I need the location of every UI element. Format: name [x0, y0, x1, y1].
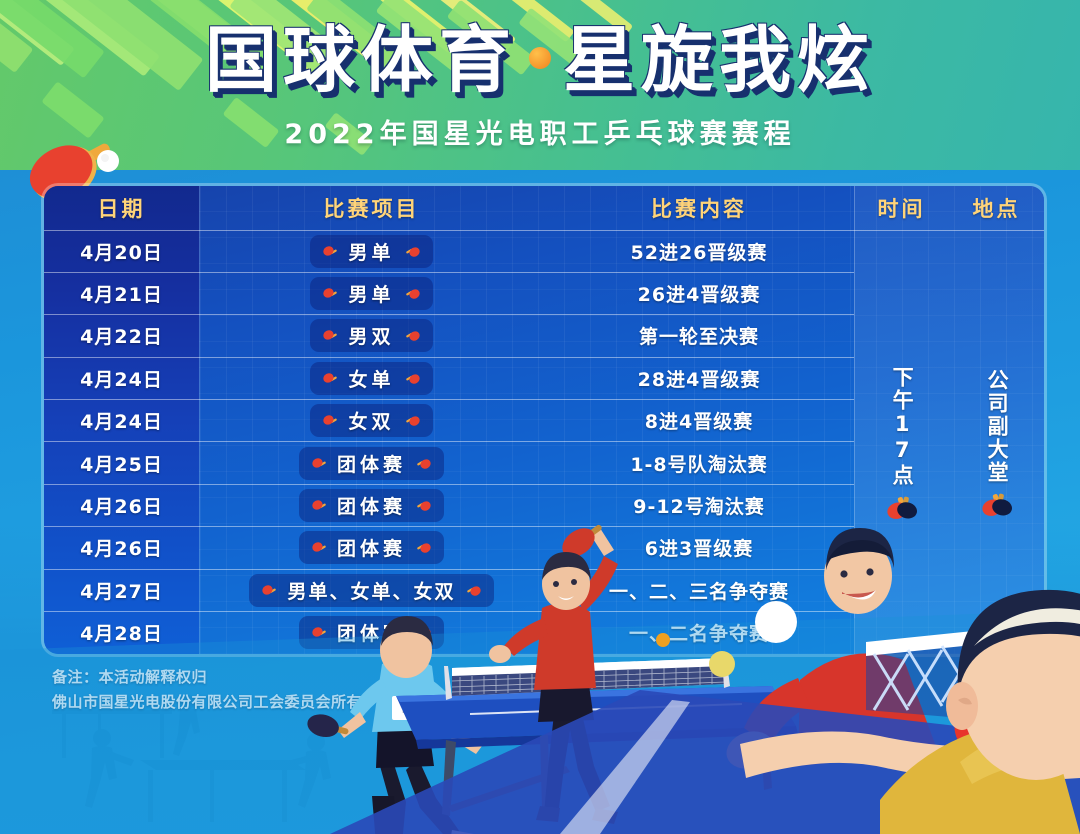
title-ball-dot	[529, 47, 551, 69]
event-label: 女单	[347, 365, 395, 392]
paddle-icon	[405, 371, 420, 386]
paddle-icon	[405, 328, 420, 343]
cell-date: 4月20日	[44, 230, 199, 272]
ping-pong-ball-white	[755, 601, 797, 643]
cell-item: 男单	[199, 272, 544, 314]
event-label: 男双	[347, 322, 395, 349]
header-place: 地点	[949, 186, 1044, 230]
event-label: 男单	[347, 280, 395, 307]
header-time: 时间	[854, 186, 949, 230]
cell-content: 1-8号队淘汰赛	[544, 442, 854, 484]
cell-item: 女双	[199, 400, 544, 442]
title-block: 国球体育星旋我炫 2022年国星光电职工乒乓球赛赛程	[0, 24, 1080, 151]
cell-item: 男单	[199, 230, 544, 272]
event-pill: 女单	[310, 362, 432, 395]
paddle-icon	[323, 244, 338, 259]
event-pill: 男双	[310, 319, 432, 352]
event-label: 男单	[347, 238, 395, 265]
cell-date: 4月25日	[44, 442, 199, 484]
place-value: 公司副大堂	[983, 369, 1010, 484]
cell-content: 52进26晋级赛	[544, 230, 854, 272]
cell-content: 8进4晋级赛	[544, 400, 854, 442]
page-title: 国球体育星旋我炫	[0, 24, 1080, 96]
paddle-icon	[405, 244, 420, 259]
cell-content: 第一轮至决赛	[544, 315, 854, 357]
paddle-icon	[405, 286, 420, 301]
event-pill: 男单	[310, 235, 432, 268]
page-subtitle: 2022年国星光电职工乒乓球赛赛程	[0, 112, 1080, 151]
cell-content: 28进4晋级赛	[544, 357, 854, 399]
cell-item: 男双	[199, 315, 544, 357]
title-part-1: 国球体育	[205, 18, 517, 102]
paddle-icon	[312, 456, 327, 471]
cell-date: 4月24日	[44, 400, 199, 442]
cell-item: 团体赛	[199, 442, 544, 484]
poster-root: 国球体育星旋我炫 2022年国星光电职工乒乓球赛赛程 日期 比赛项目 比赛内容 …	[0, 0, 1080, 834]
table-row: 4月20日 男单 52进26晋级赛 下午17点	[44, 230, 1044, 272]
event-label: 女双	[347, 407, 395, 434]
header-date: 日期	[44, 186, 199, 230]
event-pill: 团体赛	[299, 447, 444, 480]
cell-date: 4月24日	[44, 357, 199, 399]
paddle-icon	[323, 328, 338, 343]
table-header-row: 日期 比赛项目 比赛内容 时间 地点	[44, 186, 1044, 230]
cell-item: 女单	[199, 357, 544, 399]
ping-pong-ball-orange	[656, 633, 670, 647]
cell-date: 4月22日	[44, 315, 199, 357]
players-illustration: 国星	[0, 500, 1080, 834]
time-value: 下午17点	[888, 366, 915, 487]
paddle-icon	[405, 413, 420, 428]
event-pill: 女双	[310, 404, 432, 437]
paddle-icon	[323, 371, 338, 386]
header-content: 比赛内容	[544, 186, 854, 230]
title-part-2: 星旋我炫	[563, 18, 875, 102]
paddle-icon	[416, 456, 431, 471]
time-vertical-wrap: 下午17点	[854, 366, 949, 519]
event-label: 团体赛	[336, 450, 407, 477]
place-vertical-wrap: 公司副大堂	[949, 369, 1044, 516]
ping-pong-ball-yellow	[709, 651, 735, 677]
event-pill: 男单	[310, 277, 432, 310]
cell-content: 26进4晋级赛	[544, 272, 854, 314]
header-item: 比赛项目	[199, 186, 544, 230]
paddle-icon	[323, 286, 338, 301]
cell-date: 4月21日	[44, 272, 199, 314]
paddle-icon	[323, 413, 338, 428]
